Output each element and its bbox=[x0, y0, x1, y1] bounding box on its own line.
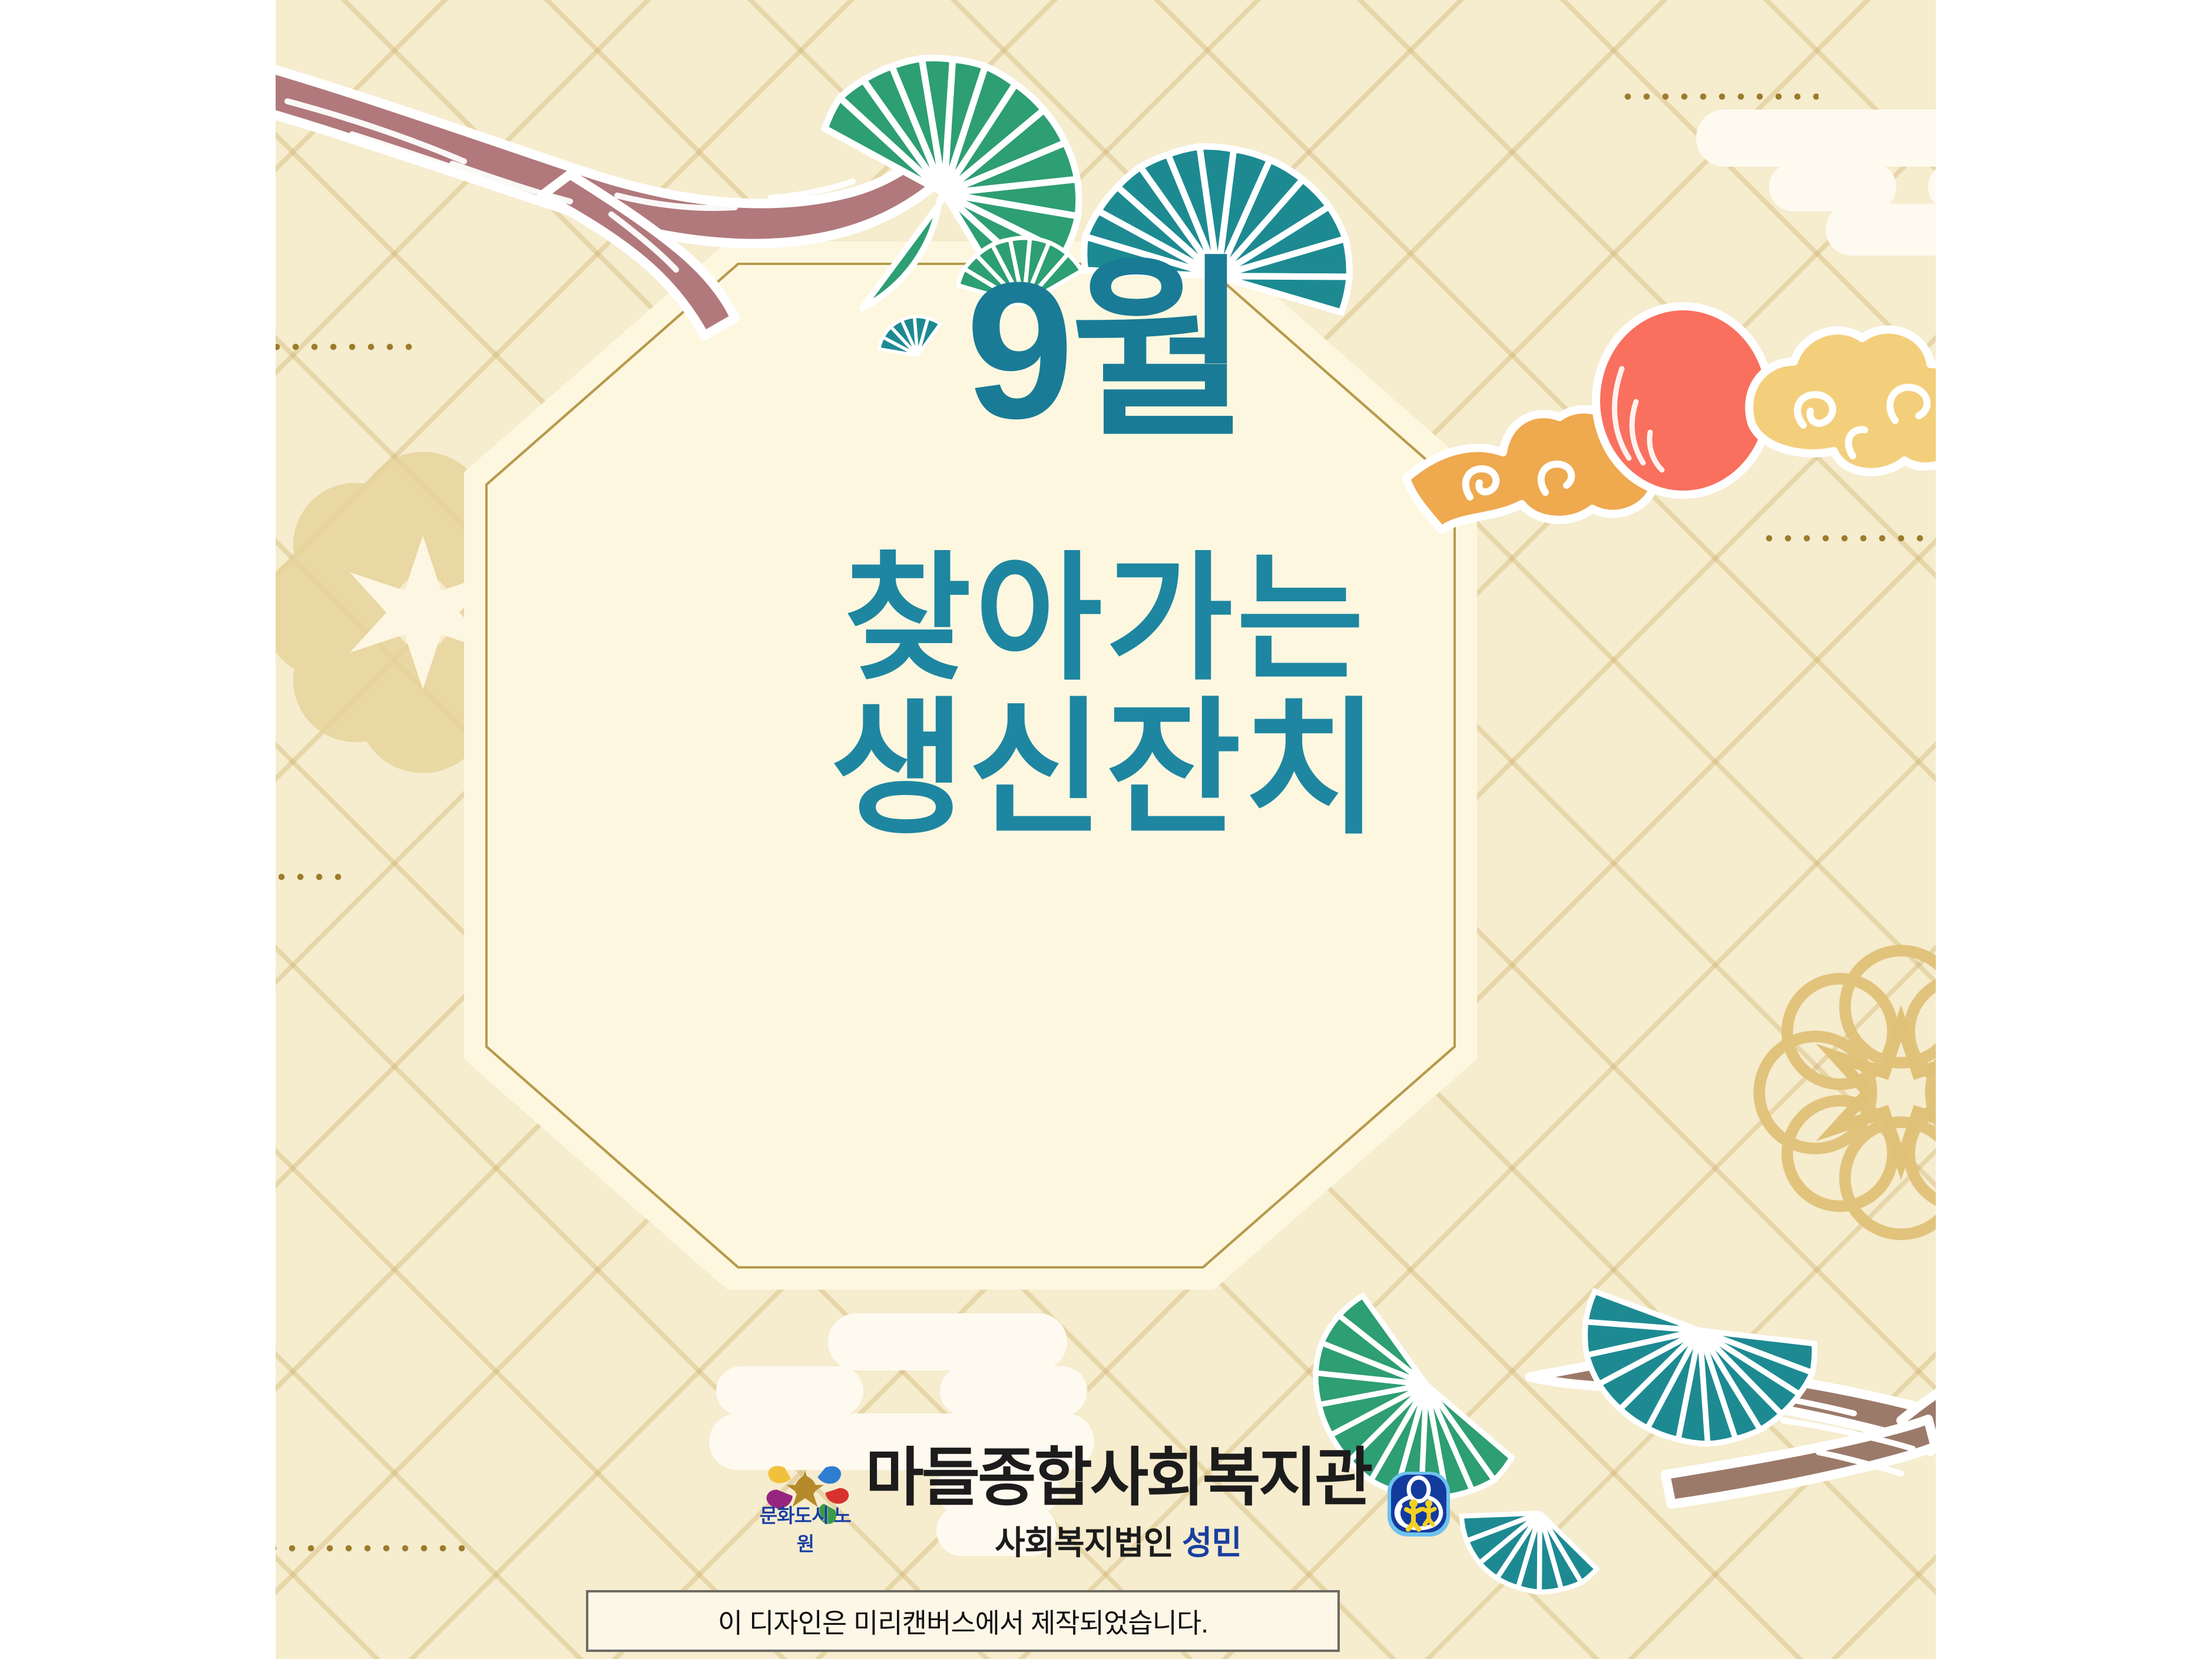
nowon-city-emblem-icon: 문화도시 노원 bbox=[758, 1453, 852, 1557]
organization-name: 마들종합사회복지관 bbox=[865, 1446, 1370, 1509]
title-line-1: 찾아가는 bbox=[276, 547, 1936, 692]
nowon-caption: 문화도시 노원 bbox=[758, 1500, 852, 1557]
poster-text-block: 9월 찾아가는 생신잔치 bbox=[276, 253, 1936, 846]
title-line-2: 생신잔치 bbox=[276, 692, 1936, 847]
org-sub-highlight: 성민 bbox=[1182, 1524, 1241, 1561]
seongmin-welfare-emblem-icon bbox=[1384, 1467, 1453, 1544]
dotted-line-mid-left bbox=[276, 872, 343, 882]
logo-row: 문화도시 노원 마들종합사회복지관 사회복지법인 성민 bbox=[276, 1446, 1936, 1564]
organization-names: 마들종합사회복지관 사회복지법인 성민 bbox=[865, 1446, 1370, 1564]
org-sub-prefix: 사회복지법인 bbox=[995, 1524, 1173, 1561]
organization-subtitle: 사회복지법인 성민 bbox=[995, 1516, 1241, 1564]
footer-note-box: 이 디자인은 미리캔버스에서 제작되었습니다. bbox=[586, 1590, 1340, 1652]
month-label: 9월 bbox=[276, 253, 1936, 448]
poster-canvas: 9월 찾아가는 생신잔치 문화도시 노원 마들종합사회복지관 사회 bbox=[276, 0, 1936, 1659]
footer-note-text: 이 디자인은 미리캔버스에서 제작되었습니다. bbox=[718, 1602, 1208, 1641]
dotted-line-top-right bbox=[1618, 91, 1819, 102]
